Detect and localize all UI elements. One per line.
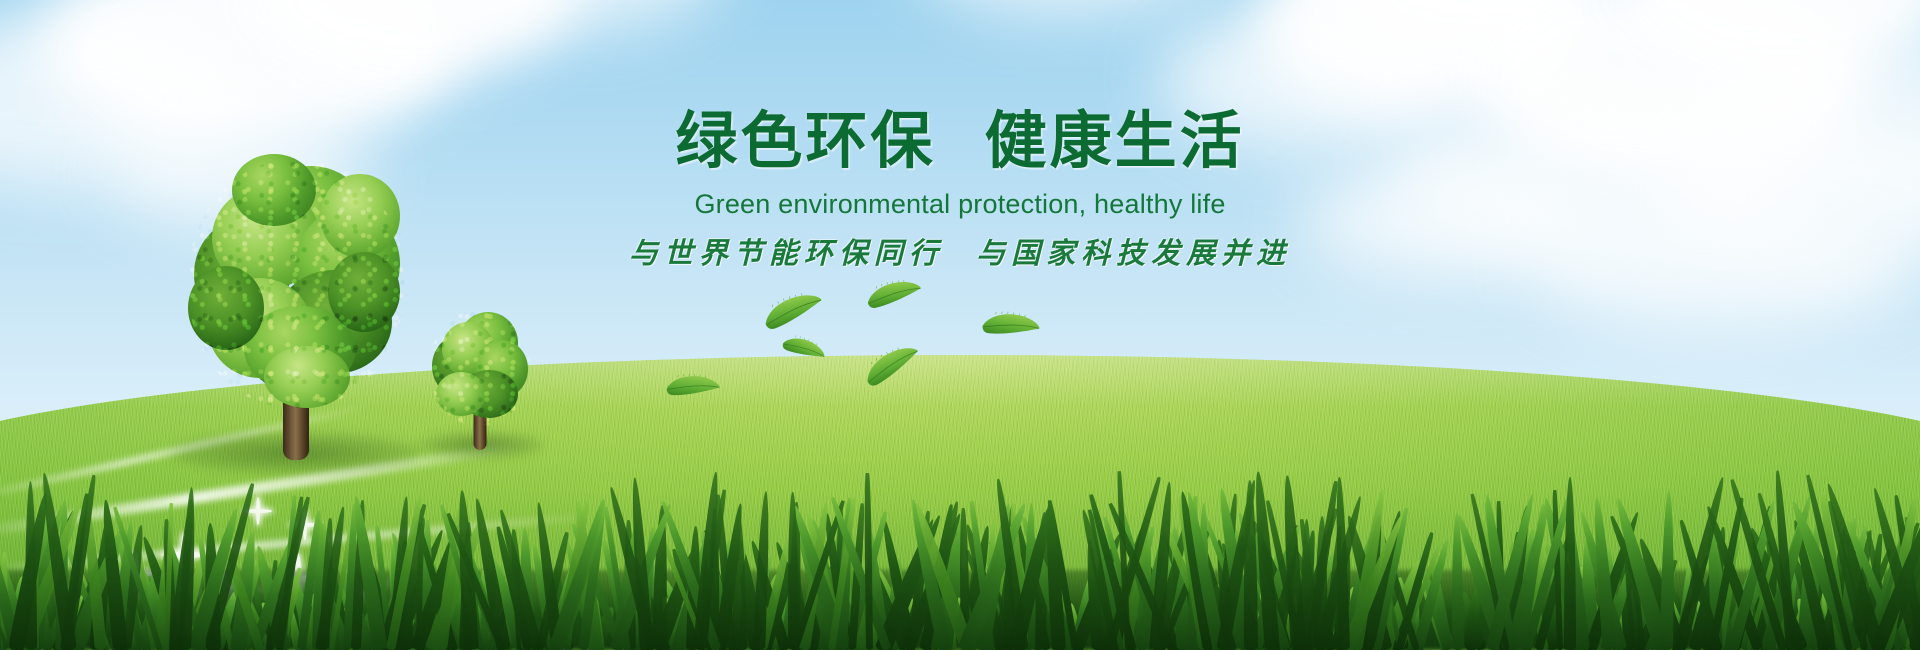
grass-blade (1564, 477, 1576, 650)
page-title: 绿色环保 健康生活 (0, 108, 1920, 175)
cloud (900, 0, 1230, 15)
banner-text-block: 绿色环保 健康生活 Green environmental protection… (0, 108, 1920, 272)
eco-banner: 绿色环保 健康生活 Green environmental protection… (0, 0, 1920, 650)
subtitle-english: Green environmental protection, healthy … (0, 189, 1920, 220)
grass-blade (864, 473, 873, 650)
small-deciduous-tree (430, 310, 530, 450)
tagline-chinese: 与世界节能环保同行 与国家科技发展并进 (0, 230, 1920, 272)
tree-crown (430, 310, 530, 450)
dark-grass-silhouette-border (0, 465, 1920, 650)
grass-blade (24, 481, 37, 650)
